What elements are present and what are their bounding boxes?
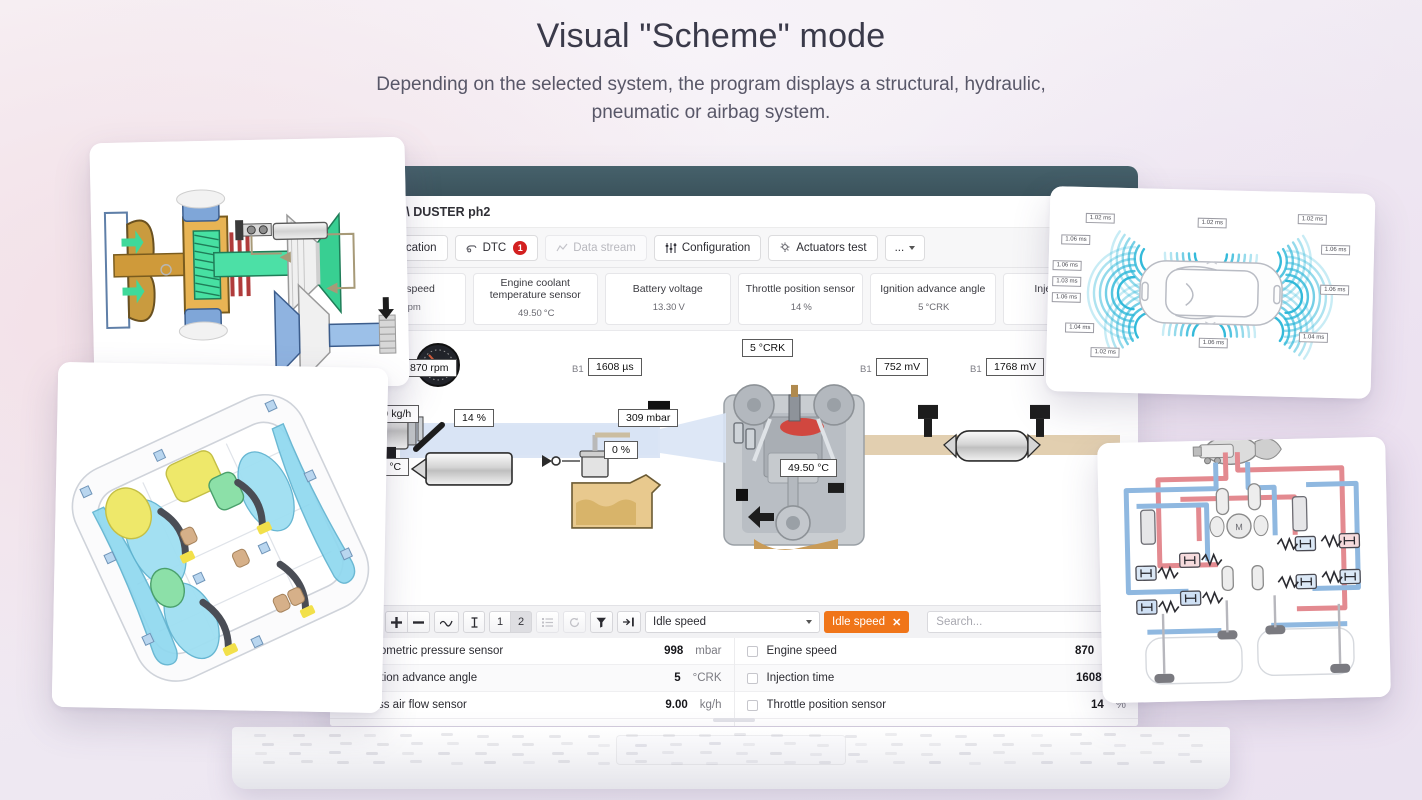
- active-filter-chip[interactable]: Idle speed ✕: [824, 611, 909, 633]
- tab-label: DTC: [483, 242, 507, 254]
- sensor-name: Engine coolant temperature sensor: [478, 277, 594, 301]
- sensor-unit: °CRK: [925, 302, 949, 313]
- sensor-name: Ignition advance angle: [880, 283, 985, 295]
- parameter-unit: mbar: [695, 645, 721, 657]
- parameter-name: Throttle position sensor: [767, 699, 1082, 711]
- card-parking-sensors[interactable]: 1.02 ms 1.06 ms 1.06 ms 1.03 ms 1.06 ms …: [1046, 186, 1376, 399]
- scheme-label-o2-downstream[interactable]: 1768 mV: [986, 358, 1044, 376]
- card-airbag-system[interactable]: [52, 362, 389, 713]
- abs-hydraulic-scheme: M: [1097, 437, 1391, 703]
- filter-button[interactable]: [590, 611, 613, 633]
- parameter-value: 14: [1091, 699, 1104, 711]
- laptop-base: [232, 727, 1230, 789]
- radar-label-7: 1.02 ms: [1198, 218, 1228, 229]
- tab-more-menu[interactable]: ...: [885, 235, 926, 261]
- tab-data-stream[interactable]: Data stream: [545, 235, 647, 261]
- scheme-label-injection-time[interactable]: 1608 µs: [588, 358, 642, 376]
- radar-label-5: 1.04 ms: [1065, 322, 1095, 333]
- card-cvt-transmission[interactable]: [89, 137, 409, 393]
- parameter-name: Mass air flow sensor: [362, 699, 656, 711]
- radar-label-11: 1.04 ms: [1299, 332, 1329, 343]
- data-toolbar: 1 2 Idle speed Idle speed ✕: [330, 605, 1138, 638]
- parameter-value: 9.00: [665, 699, 687, 711]
- sensor-card-ignition-advance[interactable]: Ignition advance angle 5°CRK: [870, 273, 996, 325]
- sensor-card-throttle-position[interactable]: Throttle position sensor 14%: [738, 273, 864, 325]
- parameter-name: Engine speed: [767, 645, 1067, 657]
- radar-label-2: 1.06 ms: [1052, 260, 1082, 271]
- search-input[interactable]: Search...: [927, 611, 1130, 633]
- radar-label-8: 1.02 ms: [1298, 214, 1328, 225]
- scheme-bank-label-injection: B1: [572, 364, 584, 375]
- keyboard-keys: [232, 727, 1230, 767]
- sensor-value: 49.50: [518, 308, 542, 319]
- table-row[interactable]: Engine speed 870 rpm: [735, 638, 1139, 665]
- close-icon[interactable]: ✕: [892, 616, 901, 629]
- chart-icon: [556, 242, 568, 254]
- search-placeholder: Search...: [936, 616, 982, 628]
- remove-button[interactable]: [407, 611, 430, 633]
- table-row[interactable]: Mass air flow sensor 9.00 kg/h: [330, 692, 734, 719]
- tab-label: ...: [895, 242, 905, 254]
- sensor-unit: V: [678, 302, 684, 313]
- module-tabbar: Identification DTC 1 Data stream Config: [330, 228, 1138, 268]
- bulb-icon: [779, 242, 791, 254]
- parameter-name: Ignition advance angle: [362, 672, 665, 684]
- tab-label: Actuators test: [796, 242, 866, 254]
- chevron-down-icon: [806, 620, 812, 624]
- tab-actuators-test[interactable]: Actuators test: [768, 235, 877, 261]
- scheme-bank-label-o2-downstream: B1: [970, 364, 982, 375]
- scheme-label-manifold-pressure[interactable]: 309 mbar: [618, 409, 678, 427]
- radar-label-10: 1.06 ms: [1320, 285, 1350, 296]
- parameter-table-right-column: Engine speed 870 rpm Injection time 1608…: [735, 638, 1139, 726]
- radar-label-1: 1.06 ms: [1061, 234, 1091, 245]
- page-subtitle: Depending on the selected system, the pr…: [331, 71, 1091, 128]
- app-header: RENAULT \ DUSTER ph2 13.: [330, 196, 1138, 228]
- radar-label-6: 1.02 ms: [1090, 347, 1120, 358]
- sensor-value: 13.30: [653, 302, 677, 313]
- column-count-group: 1 2: [489, 611, 532, 633]
- airbag-system-scheme: [52, 362, 389, 713]
- row-checkbox[interactable]: [747, 673, 758, 684]
- scheme-label-o2-upstream[interactable]: 752 mV: [876, 358, 928, 376]
- sliders-icon: [665, 242, 677, 254]
- dtc-icon: [466, 242, 478, 254]
- parameter-table: Barometric pressure sensor 998 mbar Igni…: [330, 638, 1138, 726]
- page-title: Visual "Scheme" mode: [0, 16, 1422, 57]
- scheme-label-ignition-advance[interactable]: 5 °CRK: [742, 339, 793, 357]
- table-row[interactable]: Injection time 1608 µs: [735, 665, 1139, 692]
- parameter-value: 998: [664, 645, 683, 657]
- tab-configuration[interactable]: Configuration: [654, 235, 761, 261]
- parameter-value: 5: [674, 672, 680, 684]
- engine-scheme-canvas[interactable]: 870 rpm 9.00 kg/h 16.5 °C 14 % 309 mbar …: [330, 331, 1138, 605]
- chip-label: Idle speed: [832, 616, 885, 628]
- group-select[interactable]: Idle speed: [645, 611, 820, 633]
- sensor-name: Throttle position sensor: [746, 283, 855, 295]
- list-view-button[interactable]: [536, 611, 559, 633]
- sensor-card-battery-voltage[interactable]: Battery voltage 13.30V: [605, 273, 731, 325]
- parameter-table-left-column: Barometric pressure sensor 998 mbar Igni…: [330, 638, 735, 726]
- sensor-value: 14: [791, 302, 802, 313]
- radar-label-9: 1.06 ms: [1321, 245, 1351, 256]
- radar-label-0: 1.02 ms: [1086, 213, 1116, 224]
- scheme-label-coolant-temp[interactable]: 49.50 °C: [780, 459, 837, 477]
- page-header: Visual "Scheme" mode Depending on the se…: [0, 16, 1422, 128]
- app-titlebar: [330, 166, 1138, 196]
- group-select-value: Idle speed: [653, 616, 706, 628]
- sensor-card-coolant-temp[interactable]: Engine coolant temperature sensor 49.50°…: [473, 273, 599, 325]
- row-checkbox[interactable]: [747, 646, 758, 657]
- parameter-name: Barometric pressure sensor: [362, 645, 655, 657]
- addremove-group: [385, 611, 430, 633]
- parameter-name: Injection time: [767, 672, 1068, 684]
- one-column-button[interactable]: 1: [489, 611, 511, 633]
- scheme-bank-label-o2-upstream: B1: [860, 364, 872, 375]
- tab-label: Data stream: [573, 242, 636, 254]
- parameter-value: 870: [1075, 645, 1094, 657]
- smooth-button[interactable]: [434, 611, 459, 633]
- card-abs-hydraulic[interactable]: M: [1097, 437, 1391, 703]
- two-column-button[interactable]: 2: [510, 611, 532, 633]
- scheme-label-engine-speed[interactable]: 870 rpm: [402, 359, 457, 377]
- tab-label: Configuration: [682, 242, 750, 254]
- sensor-value: 5: [918, 302, 923, 313]
- diagnostic-app-window: RENAULT \ DUSTER ph2 13. Identification …: [330, 166, 1138, 726]
- export-button[interactable]: [617, 611, 641, 633]
- table-row[interactable]: Throttle position sensor 14 %: [735, 692, 1139, 719]
- screen-notch: [713, 718, 755, 722]
- dtc-badge: 1: [513, 241, 527, 255]
- svg-text:M: M: [1235, 522, 1243, 532]
- chevron-down-icon: [909, 246, 915, 250]
- radar-label-4: 1.06 ms: [1052, 292, 1082, 303]
- tab-dtc[interactable]: DTC 1: [455, 235, 539, 261]
- parameter-unit: °CRK: [693, 672, 722, 684]
- sensor-unit: %: [803, 302, 811, 313]
- scheme-label-throttle-position[interactable]: 14 %: [454, 409, 494, 427]
- radar-label-12: 1.06 ms: [1199, 338, 1229, 349]
- table-row[interactable]: Barometric pressure sensor 998 mbar: [330, 638, 734, 665]
- radar-label-3: 1.03 ms: [1052, 276, 1082, 287]
- scheme-label-canister-purge[interactable]: 0 %: [604, 441, 638, 459]
- parameter-unit: kg/h: [700, 699, 722, 711]
- table-row[interactable]: Ignition advance angle 5 °CRK: [330, 665, 734, 692]
- refresh-button[interactable]: [563, 611, 586, 633]
- add-button[interactable]: [385, 611, 408, 633]
- cvt-transmission-scheme: [89, 137, 409, 393]
- sensor-name: Battery voltage: [633, 283, 703, 295]
- laptop-screen: RENAULT \ DUSTER ph2 13. Identification …: [330, 166, 1138, 726]
- rename-button[interactable]: [463, 611, 485, 633]
- parameter-value: 1608: [1076, 672, 1102, 684]
- row-checkbox[interactable]: [747, 700, 758, 711]
- sensor-unit: °C: [544, 308, 555, 319]
- sensor-card-row: Engine speed 870rpm Engine coolant tempe…: [330, 268, 1138, 331]
